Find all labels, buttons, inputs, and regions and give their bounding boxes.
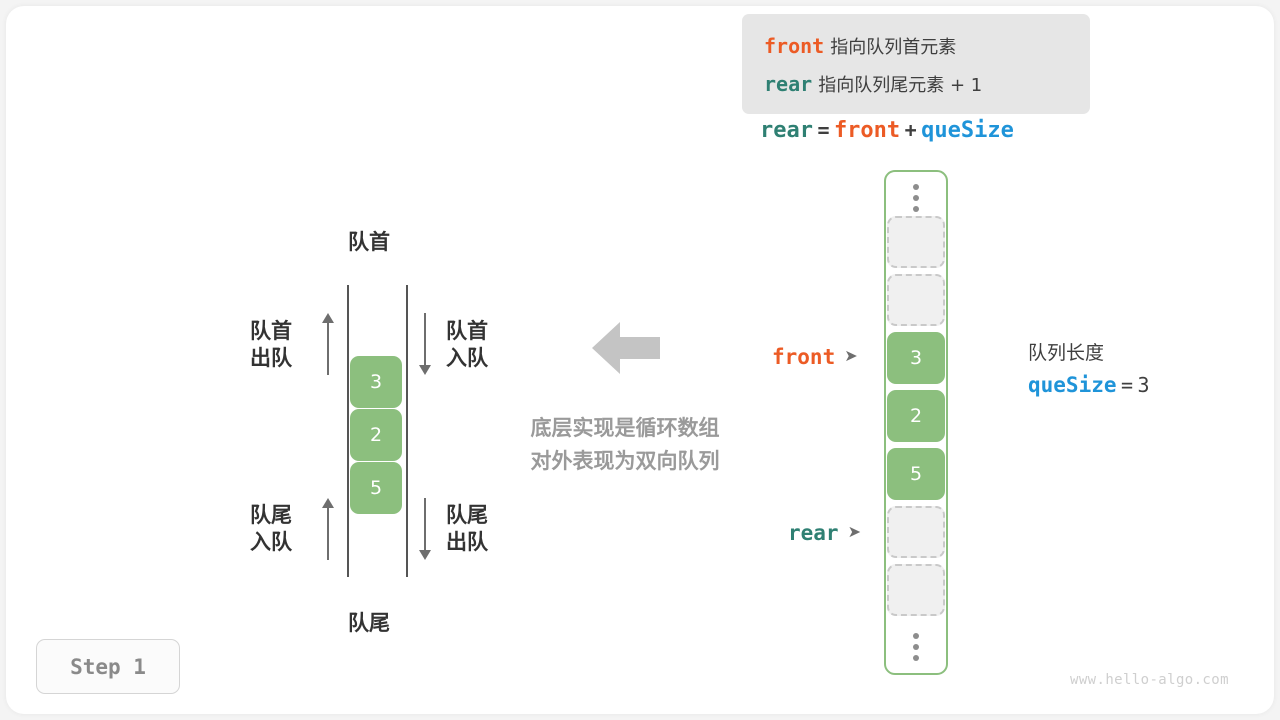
deque-cell-1: 2 [350, 409, 402, 461]
head-enqueue-label-line2: 入队 [446, 345, 488, 372]
tail-dequeue-label: 队尾 出队 [446, 502, 488, 556]
step-badge: Step 1 [36, 639, 180, 694]
deque-tail-label: 队尾 [348, 610, 390, 637]
implementation-caption-line2: 对外表现为双向队列 [502, 445, 748, 478]
deque-cell-1-value: 2 [370, 424, 382, 446]
pointer-legend-box: front 指向队列首元素 rear 指向队列尾元素 + 1 [742, 14, 1090, 114]
formula-quesize: queSize [921, 118, 1014, 143]
tail-dequeue-arrow-down-icon [418, 498, 432, 560]
tail-enqueue-label-line2: 入队 [250, 529, 292, 556]
head-dequeue-label: 队首 出队 [250, 318, 292, 372]
tail-enqueue-label-line1: 队尾 [250, 502, 292, 529]
array-slot-2-value: 3 [910, 347, 922, 369]
tail-enqueue-arrow-up-icon [321, 498, 335, 560]
array-slot-4: 5 [887, 448, 945, 500]
head-dequeue-label-line1: 队首 [250, 318, 292, 345]
array-slot-4-value: 5 [910, 463, 922, 485]
quesize-annotation: 队列长度 queSize = 3 [1028, 338, 1150, 405]
array-slot-3-value: 2 [910, 405, 922, 427]
quesize-title: 队列长度 [1028, 338, 1150, 368]
formula-rear: rear [760, 118, 813, 143]
vertical-ellipsis-icon-bottom [913, 633, 919, 661]
head-enqueue-label-line1: 队首 [446, 318, 488, 345]
deque-cell-2-value: 5 [370, 477, 382, 499]
mapping-arrow-left-icon [592, 320, 660, 376]
quesize-equals: = [1121, 373, 1133, 397]
array-slot-5 [887, 506, 945, 558]
deque-cell-0-value: 3 [370, 371, 382, 393]
front-pointer-arrow-icon: ➤ [844, 349, 857, 365]
vertical-ellipsis-icon-top [913, 184, 919, 212]
tail-dequeue-label-line1: 队尾 [446, 502, 488, 529]
implementation-caption-line1: 底层实现是循环数组 [502, 412, 748, 445]
array-slot-2: 3 [887, 332, 945, 384]
legend-front-desc: 指向队列首元素 [830, 37, 956, 58]
array-slot-1 [887, 274, 945, 326]
deque-cell-2: 5 [350, 462, 402, 514]
step-badge-label: Step 1 [70, 655, 146, 679]
legend-front-line: front 指向队列首元素 [764, 28, 1090, 66]
array-slot-0 [887, 216, 945, 268]
circular-array-frame: 3 2 5 [884, 170, 948, 675]
array-slot-3: 2 [887, 390, 945, 442]
head-dequeue-label-line2: 出队 [250, 345, 292, 372]
deque-head-label: 队首 [348, 229, 390, 256]
deque-right-rail [406, 285, 408, 577]
legend-rear-line: rear 指向队列尾元素 + 1 [764, 66, 1090, 104]
head-dequeue-arrow-up-icon [321, 313, 335, 375]
formula-front: front [834, 118, 900, 143]
tail-enqueue-label: 队尾 入队 [250, 502, 292, 556]
rear-formula: rear = front + queSize [760, 118, 1014, 143]
quesize-name: queSize [1028, 373, 1117, 397]
legend-rear-name: rear [764, 72, 812, 96]
diagram-canvas: front 指向队列首元素 rear 指向队列尾元素 + 1 rear = fr… [0, 0, 1280, 720]
array-slot-6 [887, 564, 945, 616]
deque-cell-0: 3 [350, 356, 402, 408]
legend-front-name: front [764, 34, 824, 58]
head-enqueue-label: 队首 入队 [446, 318, 488, 372]
quesize-value: 3 [1137, 373, 1149, 397]
tail-dequeue-label-line2: 出队 [446, 529, 488, 556]
rear-pointer-text: rear [788, 521, 839, 545]
watermark: www.hello-algo.com [1070, 672, 1229, 688]
formula-equals: = [817, 118, 829, 142]
front-pointer-text: front [772, 345, 835, 369]
implementation-caption: 底层实现是循环数组 对外表现为双向队列 [502, 412, 748, 478]
head-enqueue-arrow-down-icon [418, 313, 432, 375]
formula-plus: + [905, 118, 917, 142]
front-pointer-label: front ➤ [772, 345, 858, 369]
rear-pointer-arrow-icon: ➤ [848, 525, 861, 541]
deque-left-rail [347, 285, 349, 577]
rear-pointer-label: rear ➤ [788, 521, 861, 545]
legend-rear-desc: 指向队列尾元素 + 1 [818, 75, 982, 96]
quesize-value-line: queSize = 3 [1028, 368, 1150, 405]
